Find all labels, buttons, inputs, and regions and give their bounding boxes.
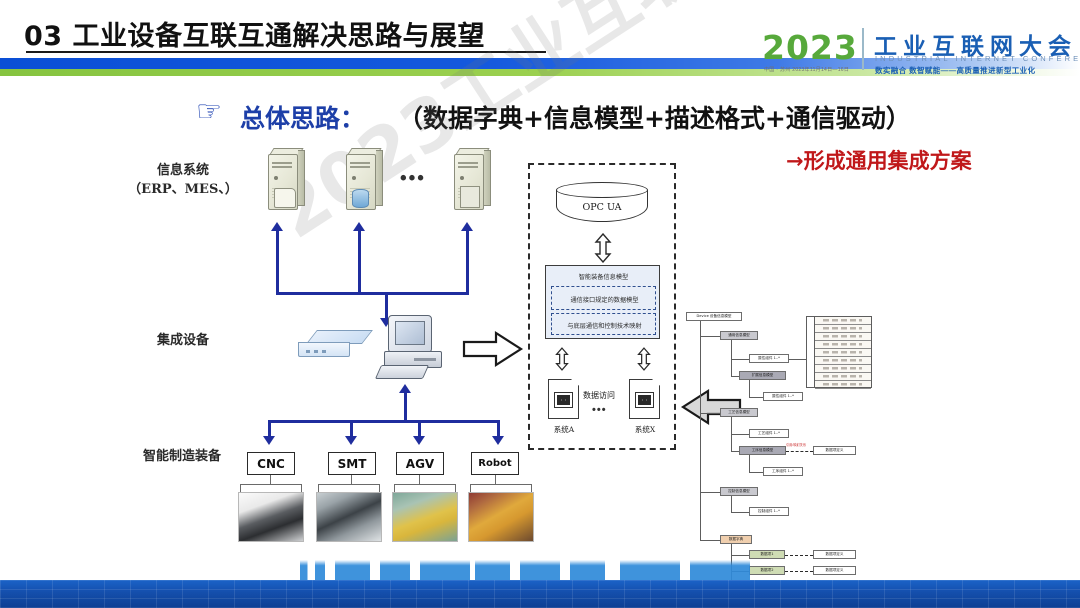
- agv-photo: [392, 492, 458, 542]
- tree-table-bracket: [806, 316, 814, 388]
- tree-spine: [700, 321, 701, 540]
- cnc-machine-photo: [238, 492, 304, 542]
- logo-tagline: 数实融合 数智赋能——高质量推进新型工业化: [875, 65, 1035, 76]
- row-label-information-systems: 信息系统 （ERP、MES、）: [118, 162, 248, 200]
- tree-node[interactable]: 数据项定义: [813, 446, 856, 455]
- tree-attribute-table: [814, 316, 872, 388]
- system-x-caption: 系统X: [620, 424, 670, 435]
- bracket-bar: [240, 484, 302, 485]
- smt-line-photo: [316, 492, 382, 542]
- bracket-bar: [394, 484, 456, 485]
- pointing-hand-icon: ☞: [196, 98, 222, 127]
- system-document-icon: [629, 379, 660, 419]
- document-glyph: [554, 392, 573, 408]
- document-glyph: [635, 392, 654, 408]
- row-label-integration-device: 集成设备: [118, 332, 248, 351]
- server-slot: [350, 162, 370, 164]
- connector-arrow-down-icon: [263, 436, 275, 445]
- cylinder-top: [556, 182, 648, 198]
- opc-ua-label: OPC UA: [556, 202, 648, 213]
- tree-branch: [700, 492, 720, 493]
- tree-branch: [731, 376, 739, 377]
- bracket-leg: [318, 484, 319, 492]
- tree-node[interactable]: 工序组件 1..*: [763, 467, 803, 476]
- arrow-right-icon: [462, 330, 524, 368]
- switch-led: [322, 350, 326, 353]
- tree-node[interactable]: 工艺信息模型: [720, 408, 758, 417]
- row-label-info-line1: 信息系统: [118, 162, 248, 181]
- server-slot: [350, 166, 370, 168]
- bracket-leg: [531, 484, 532, 492]
- tree-branch: [700, 413, 720, 414]
- tree-node[interactable]: 控制信息模型: [720, 487, 758, 496]
- connector-arrow-up-icon: [399, 384, 411, 393]
- slide-footer: [0, 568, 1080, 608]
- bracket-leg: [301, 484, 302, 492]
- server-slot: [458, 166, 478, 168]
- connector-arrow-down-icon: [345, 436, 357, 445]
- double-arrow-vertical-icon: [637, 344, 651, 374]
- keyboard-icon: [375, 365, 429, 379]
- connector-arrow-down-icon: [492, 436, 504, 445]
- tree-node-data-dictionary[interactable]: 数据字典: [720, 535, 752, 544]
- table-row: [815, 341, 871, 349]
- server-slot: [458, 162, 478, 164]
- connector-line: [466, 231, 469, 295]
- device-box-robot[interactable]: Robot: [471, 452, 519, 475]
- tree-dashed-note: 引用/映射关系: [786, 442, 806, 447]
- tree-branch: [731, 434, 749, 435]
- table-row: [815, 381, 871, 389]
- row-label-info-line2: （ERP、MES、）: [118, 181, 248, 200]
- tree-node[interactable]: 属性组件 1..*: [749, 354, 789, 363]
- row-label-smart-manufacturing: 智能制造装备: [112, 448, 252, 467]
- double-arrow-vertical-icon: [594, 233, 612, 263]
- model-inner-box-2: 与底层通信和控制技术映射: [551, 313, 656, 335]
- model-line-3: 与底层通信和控制技术映射: [551, 321, 658, 330]
- server-slot: [272, 162, 292, 164]
- robot-arm-photo: [468, 492, 534, 542]
- tree-node[interactable]: 控制组件 1..*: [749, 507, 789, 516]
- tree-branch: [731, 512, 749, 513]
- switch-led: [306, 350, 310, 353]
- tree-branch: [749, 455, 750, 473]
- database-badge-icon: [352, 189, 369, 208]
- logo-divider: [862, 28, 864, 70]
- connector-arrow-up-icon: [353, 222, 365, 231]
- table-row: [815, 349, 871, 357]
- device-box-smt[interactable]: SMT: [328, 452, 376, 475]
- connector-arrow-up-icon: [271, 222, 283, 231]
- tree-dashed-link: [786, 451, 813, 452]
- server-led: [352, 176, 356, 180]
- system-a-caption: 系统A: [539, 424, 589, 435]
- logo-year-text: 2023: [762, 28, 858, 67]
- overall-idea-label: 总体思路：: [240, 99, 365, 135]
- tree-branch: [731, 417, 732, 435]
- page-title: 03 工业设备互联互通解决思路与展望: [24, 14, 485, 53]
- tree-branch: [700, 336, 720, 337]
- tree-branch: [731, 359, 732, 377]
- tree-branch: [731, 434, 732, 452]
- device-model-tree: Device 设备信息模型 通用信息模型 属性组件 1..* 扩展信息模型 属性…: [686, 312, 896, 570]
- network-switch-icon: [298, 330, 364, 360]
- document-badge-icon: [274, 188, 296, 208]
- tree-branch: [700, 540, 720, 541]
- conference-logo: 2023 中国 · 苏州 2023年11月14日—16日 工业互联网大会 IND…: [762, 26, 1072, 78]
- footer-band: [0, 580, 1080, 608]
- server-led: [274, 176, 278, 180]
- tree-node[interactable]: 数据项定义: [813, 550, 856, 559]
- table-row: [815, 325, 871, 333]
- desktop-computer-icon: [378, 315, 450, 381]
- title-underline: [26, 51, 546, 53]
- model-line-2: 通信接口规定的数据模型: [551, 295, 658, 304]
- tree-branch: [731, 451, 739, 452]
- table-row: [815, 373, 871, 381]
- skyline-graphic: [290, 560, 790, 582]
- model-line-1: 智能装备信息模型: [550, 272, 657, 281]
- tree-branch: [731, 555, 749, 556]
- tree-branch: [731, 359, 749, 360]
- bracket-leg: [394, 484, 395, 492]
- connector-bus: [276, 292, 469, 295]
- server-side-face: [298, 150, 305, 206]
- tree-branch: [731, 340, 732, 360]
- tree-node-root[interactable]: Device 设备信息模型: [686, 312, 742, 321]
- double-arrow-vertical-icon: [555, 344, 569, 374]
- callout-text: →形成通用集成方案: [786, 145, 972, 175]
- connector-arrow-down-icon: [413, 436, 425, 445]
- data-access-label: 数据访问: [583, 390, 615, 401]
- tower-slot: [414, 358, 436, 361]
- tree-node[interactable]: 工艺组件 1..*: [749, 429, 789, 438]
- tree-branch: [749, 397, 763, 398]
- tree-node[interactable]: 通用信息模型: [720, 331, 758, 340]
- bracket-bar: [318, 484, 380, 485]
- bracket-leg: [470, 484, 471, 492]
- table-row: [815, 365, 871, 373]
- server-led: [460, 176, 464, 180]
- tree-branch: [749, 380, 750, 398]
- server-side-face: [376, 150, 383, 206]
- system-document-icon: [548, 379, 579, 419]
- monitor-screen: [395, 321, 425, 345]
- connector-bus: [268, 420, 500, 423]
- connector-line: [276, 231, 279, 295]
- information-model-box: 智能装备信息模型 通信接口规定的数据模型 与底层通信和控制技术映射: [545, 265, 660, 339]
- overall-idea-formula: （数据字典+信息模型+描述格式+通信驱动）: [398, 99, 911, 135]
- opc-ua-cylinder-icon: OPC UA: [556, 182, 648, 230]
- device-box-agv[interactable]: AGV: [396, 452, 444, 475]
- server-side-face: [484, 150, 491, 206]
- model-inner-box-1: 通信接口规定的数据模型: [551, 286, 656, 310]
- device-box-cnc[interactable]: CNC: [247, 452, 295, 475]
- tree-branch: [731, 496, 732, 513]
- connector-arrow-up-icon: [461, 222, 473, 231]
- tree-node[interactable]: 工序信息模型: [739, 446, 786, 455]
- systems-ellipsis: •••: [592, 404, 607, 416]
- logo-name-en: INDUSTRIAL INTERNET CONFERENCE: [875, 54, 1080, 63]
- tree-link: [789, 359, 806, 360]
- switch-led: [314, 350, 318, 353]
- connector-line: [358, 231, 361, 295]
- tree-node[interactable]: 扩展信息模型: [739, 371, 786, 380]
- bracket-leg: [240, 484, 241, 492]
- tree-branch: [749, 472, 763, 473]
- tree-node[interactable]: 属性组件 1..*: [763, 392, 803, 401]
- device-badge-icon: [460, 186, 480, 208]
- slide-header: 03 工业设备互联互通解决思路与展望 2023 中国 · 苏州 2023年11月…: [0, 0, 1080, 85]
- table-row: [815, 357, 871, 365]
- bracket-leg: [455, 484, 456, 492]
- logo-year-subtext: 中国 · 苏州 2023年11月14日—16日: [764, 66, 849, 73]
- table-row: [815, 317, 871, 325]
- tree-dashed-link: [785, 555, 813, 556]
- table-row: [815, 333, 871, 341]
- bracket-bar: [470, 484, 532, 485]
- connector-line: [404, 392, 407, 422]
- tree-node[interactable]: 数据项1: [749, 550, 785, 559]
- server-slot: [272, 166, 292, 168]
- bracket-leg: [379, 484, 380, 492]
- servers-ellipsis: •••: [400, 168, 426, 190]
